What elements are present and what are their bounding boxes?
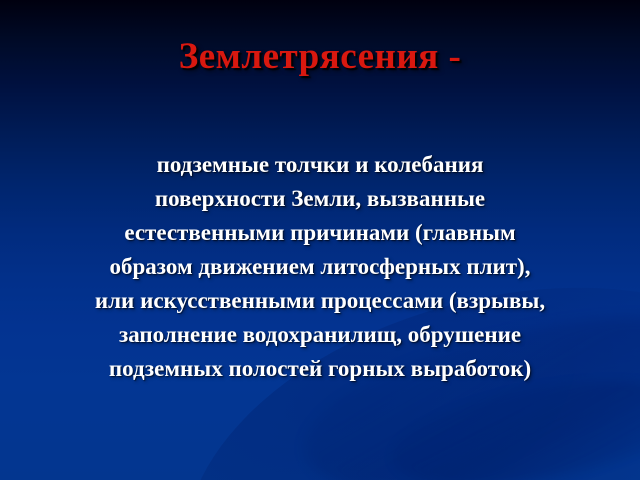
slide-title: Землетрясения - — [0, 36, 640, 79]
body-line: заполнение водохранилищ, обрушение — [34, 318, 606, 352]
body-line: подземные толчки и колебания — [34, 148, 606, 182]
slide-body-text: подземные толчки и колебания поверхности… — [34, 148, 606, 386]
body-line: поверхности Земли, вызванные — [34, 182, 606, 216]
body-line: образом движением литосферных плит), — [34, 250, 606, 284]
body-line: естественными причинами (главным — [34, 216, 606, 250]
body-line: или искусственными процессами (взрывы, — [34, 284, 606, 318]
presentation-slide: Землетрясения - подземные толчки и колеб… — [0, 0, 640, 480]
body-line: подземных полостей горных выработок) — [34, 352, 606, 386]
